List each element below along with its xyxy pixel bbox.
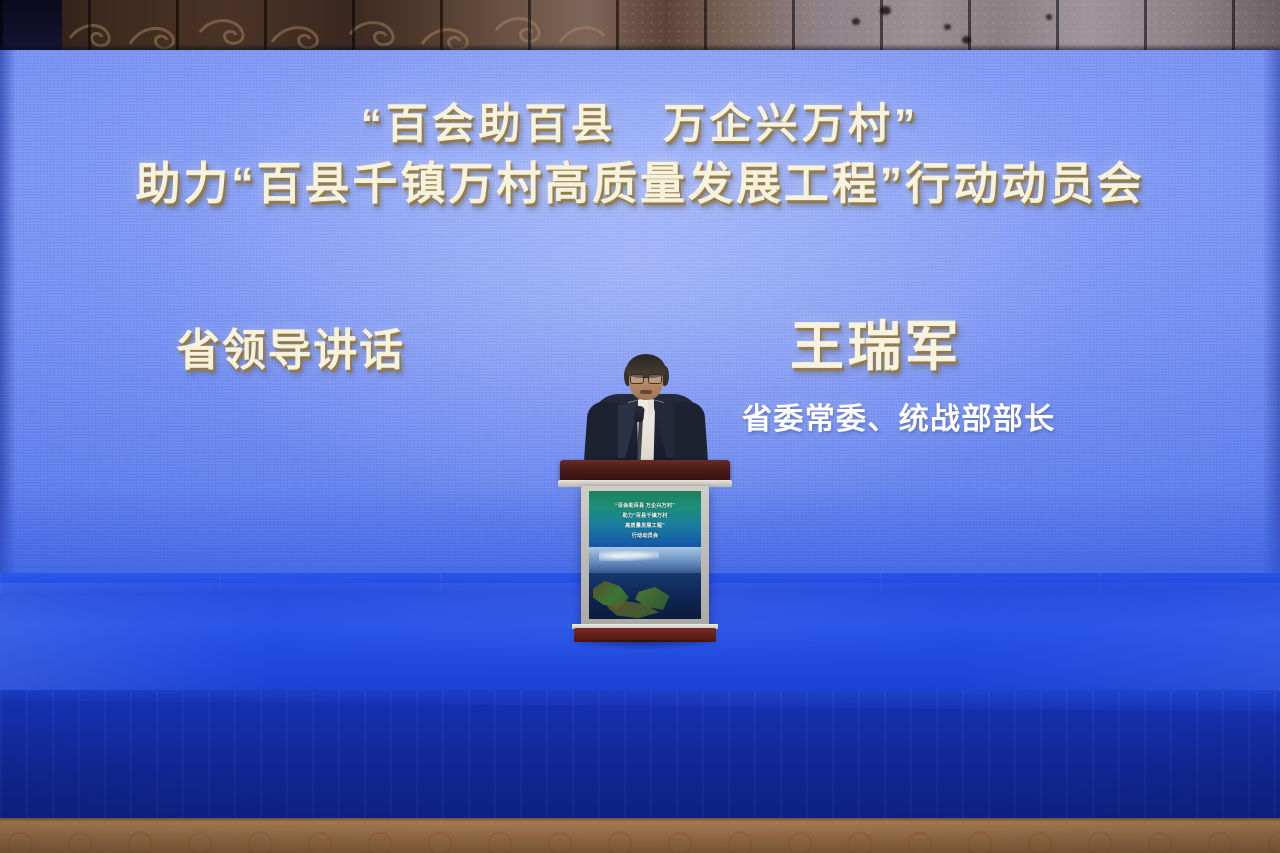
podium-body: “百会助百县 万企兴万村” 助力“百县千镇万村 高质量发展工程” 行动动员会 [581, 486, 709, 634]
stage-skirt-folds [0, 690, 1280, 825]
podium-top-surface [560, 460, 730, 482]
speaker-and-podium: “百会助百县 万企兴万村” 助力“百县千镇万村 高质量发展工程” 行动动员会 [560, 350, 730, 640]
floor-carpet [0, 818, 1280, 853]
speaker-role-title: 省委常委、统战部部长 [742, 394, 1056, 438]
eyeglasses-bridge [643, 377, 649, 378]
event-title-line-1: “百会助百县 万企兴万村” [0, 98, 1280, 151]
podium-text-line-4: 行动动员会 [589, 531, 701, 541]
ceiling-smudge [962, 36, 971, 44]
speaker-name: 王瑞军 [790, 302, 962, 381]
ceiling-smudge [944, 24, 951, 30]
event-title-block: “百会助百县 万企兴万村” 助力“百县千镇万村高质量发展工程”行动动员会 [0, 98, 1280, 212]
ceiling-smudge [852, 18, 860, 25]
ceiling-smudge [1046, 14, 1052, 20]
carpet-pattern [0, 818, 1280, 853]
podium-floor-shadow [566, 640, 724, 650]
speaker-shoulder-right [670, 401, 708, 465]
podium-front-screen: “百会助百县 万企兴万村” 助力“百县千镇万村 高质量发展工程” 行动动员会 [589, 491, 701, 619]
eyeglasses-icon [630, 374, 662, 382]
speaker-person [560, 350, 730, 470]
podium-text-line-1: “百会助百县 万企兴万村” [589, 501, 701, 511]
ceiling-panel-band [0, 0, 1280, 52]
podium-screen-text: “百会助百县 万企兴万村” 助力“百县千镇万村 高质量发展工程” 行动动员会 [589, 501, 701, 542]
ceiling-smudge [880, 6, 891, 15]
podium-screen-clouds [599, 549, 659, 561]
podium-text-line-3: 高质量发展工程” [589, 521, 701, 531]
speaker-shoulder-left [584, 401, 622, 465]
microphone-icon [633, 406, 645, 423]
speech-section-label: 省领导讲话 [176, 314, 405, 378]
stage-front-skirt [0, 690, 1280, 825]
stage-photo: “百会助百县 万企兴万村” 助力“百县千镇万村高质量发展工程”行动动员会 省领导… [0, 0, 1280, 853]
podium-text-line-2: 助力“百县千镇万村 [589, 511, 701, 521]
speaker-mouth [640, 390, 652, 394]
event-title-line-2: 助力“百县千镇万村高质量发展工程”行动动员会 [0, 155, 1280, 213]
